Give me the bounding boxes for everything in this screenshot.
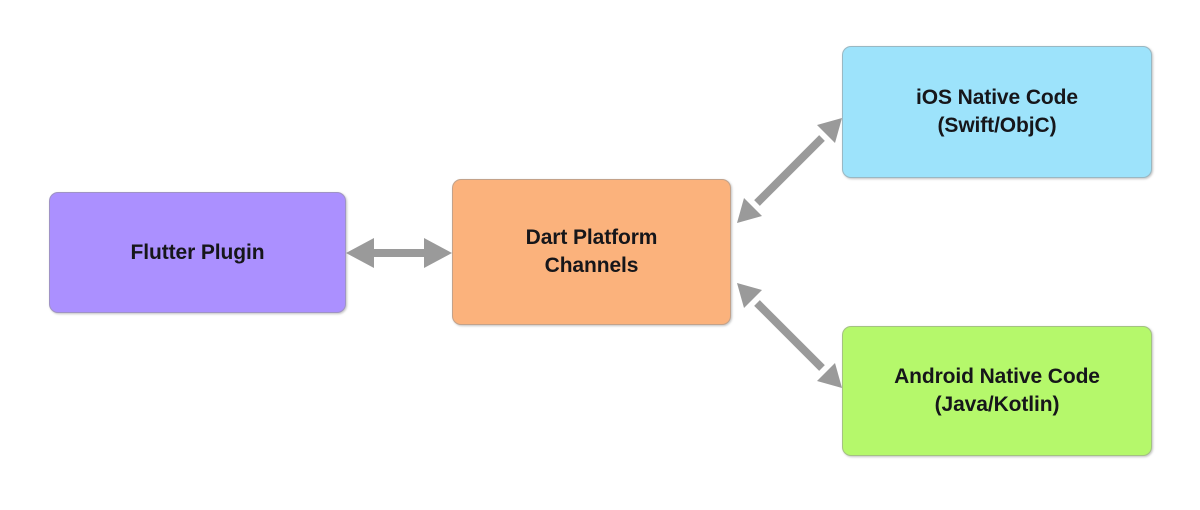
- node-dart-platform-channels[interactable]: Dart Platform Channels: [452, 179, 731, 325]
- edge-plugin-dart-arrow: [346, 238, 452, 268]
- edge-dart-ios-arrow: [737, 118, 842, 223]
- node-ios-native-code[interactable]: iOS Native Code (Swift/ObjC): [842, 46, 1152, 178]
- node-flutter-plugin-label: Flutter Plugin: [121, 239, 275, 267]
- edge-dart-android-arrow: [737, 283, 842, 388]
- diagram-canvas: Flutter Plugin Dart Platform Channels iO…: [0, 0, 1200, 510]
- node-ios-native-code-label: iOS Native Code (Swift/ObjC): [906, 84, 1088, 139]
- node-flutter-plugin[interactable]: Flutter Plugin: [49, 192, 346, 313]
- node-android-native-code[interactable]: Android Native Code (Java/Kotlin): [842, 326, 1152, 456]
- node-dart-platform-channels-label: Dart Platform Channels: [516, 224, 668, 279]
- node-android-native-code-label: Android Native Code (Java/Kotlin): [884, 363, 1110, 418]
